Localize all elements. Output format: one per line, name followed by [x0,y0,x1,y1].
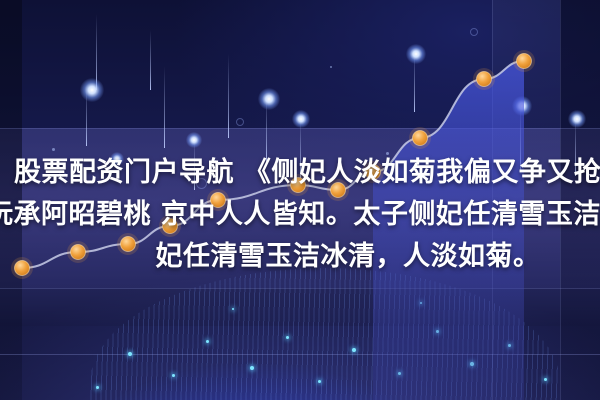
chart-point-10 [517,54,532,69]
caption-line-3: 妃任清雪玉洁冰清，人淡如菊。 [0,240,600,274]
chart-point-8 [413,131,428,146]
caption-line-1: 股票配资门户导航 《侧妃人淡如菊我偏又争又抢 [0,156,600,190]
chart-point-9 [477,72,492,87]
caption-line-2: 沅承阿昭碧桃 京中人人皆知。太子侧妃任清雪玉洁冰清 [0,198,600,232]
banner-image: 股票配资门户导航 《侧妃人淡如菊我偏又争又抢 沅承阿昭碧桃 京中人人皆知。太子侧… [0,0,600,400]
